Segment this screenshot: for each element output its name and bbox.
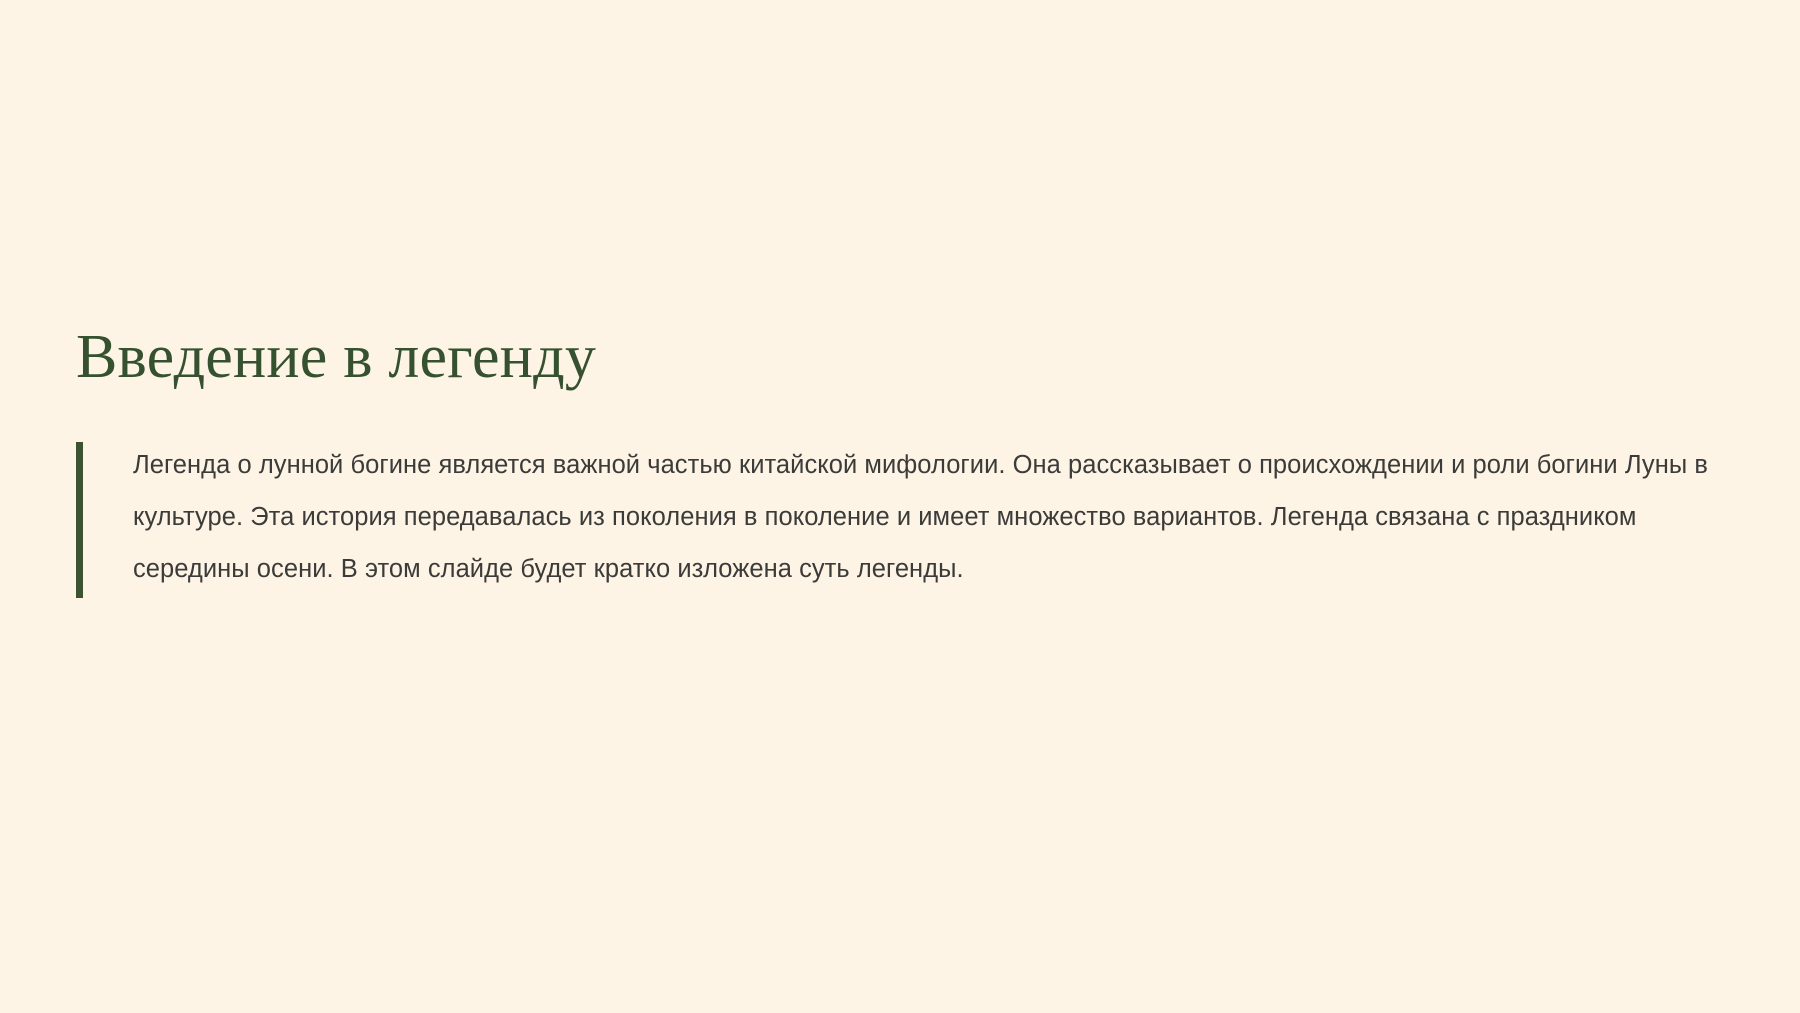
body-text-block: Легенда о лунной богине является важной …	[76, 439, 1724, 595]
slide-content-block: Введение в легенду Легенда о лунной боги…	[76, 322, 1724, 595]
slide-body-paragraph: Легенда о лунной богине является важной …	[133, 439, 1723, 595]
accent-bar	[76, 442, 83, 598]
page-title: Введение в легенду	[76, 322, 1724, 393]
presentation-slide: Введение в легенду Легенда о лунной боги…	[0, 0, 1800, 1013]
